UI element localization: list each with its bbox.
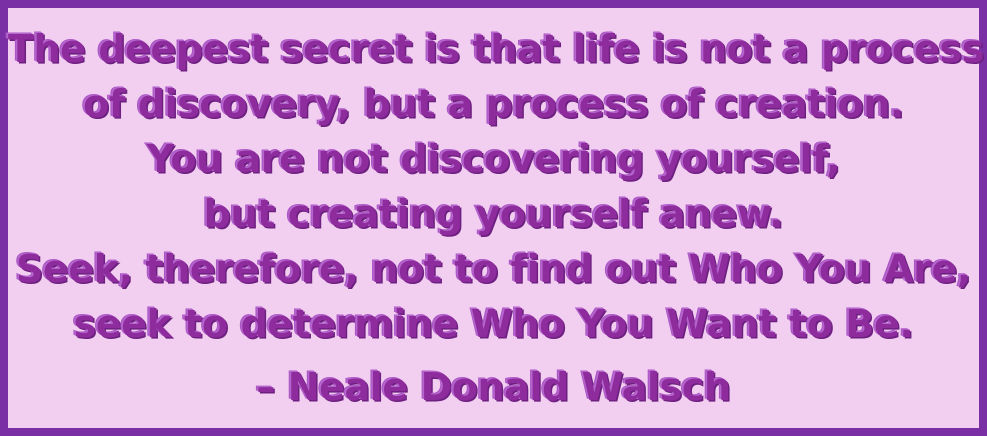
quote-text-block: The deepest secret is that life is not a… bbox=[8, 22, 979, 415]
quote-line-1: The deepest secret is that life is not a… bbox=[8, 22, 979, 77]
quote-line-2: of discovery, but a process of creation. bbox=[8, 77, 979, 132]
quote-card: The deepest secret is that life is not a… bbox=[0, 0, 987, 436]
quote-line-5: Seek, therefore, not to find out Who You… bbox=[8, 242, 979, 297]
quote-line-6: seek to determine Who You Want to Be. bbox=[8, 297, 979, 352]
quote-attribution: – Neale Donald Walsch bbox=[8, 360, 979, 415]
quote-line-3: You are not discovering yourself, bbox=[8, 132, 979, 187]
quote-line-4: but creating yourself anew. bbox=[8, 187, 979, 242]
